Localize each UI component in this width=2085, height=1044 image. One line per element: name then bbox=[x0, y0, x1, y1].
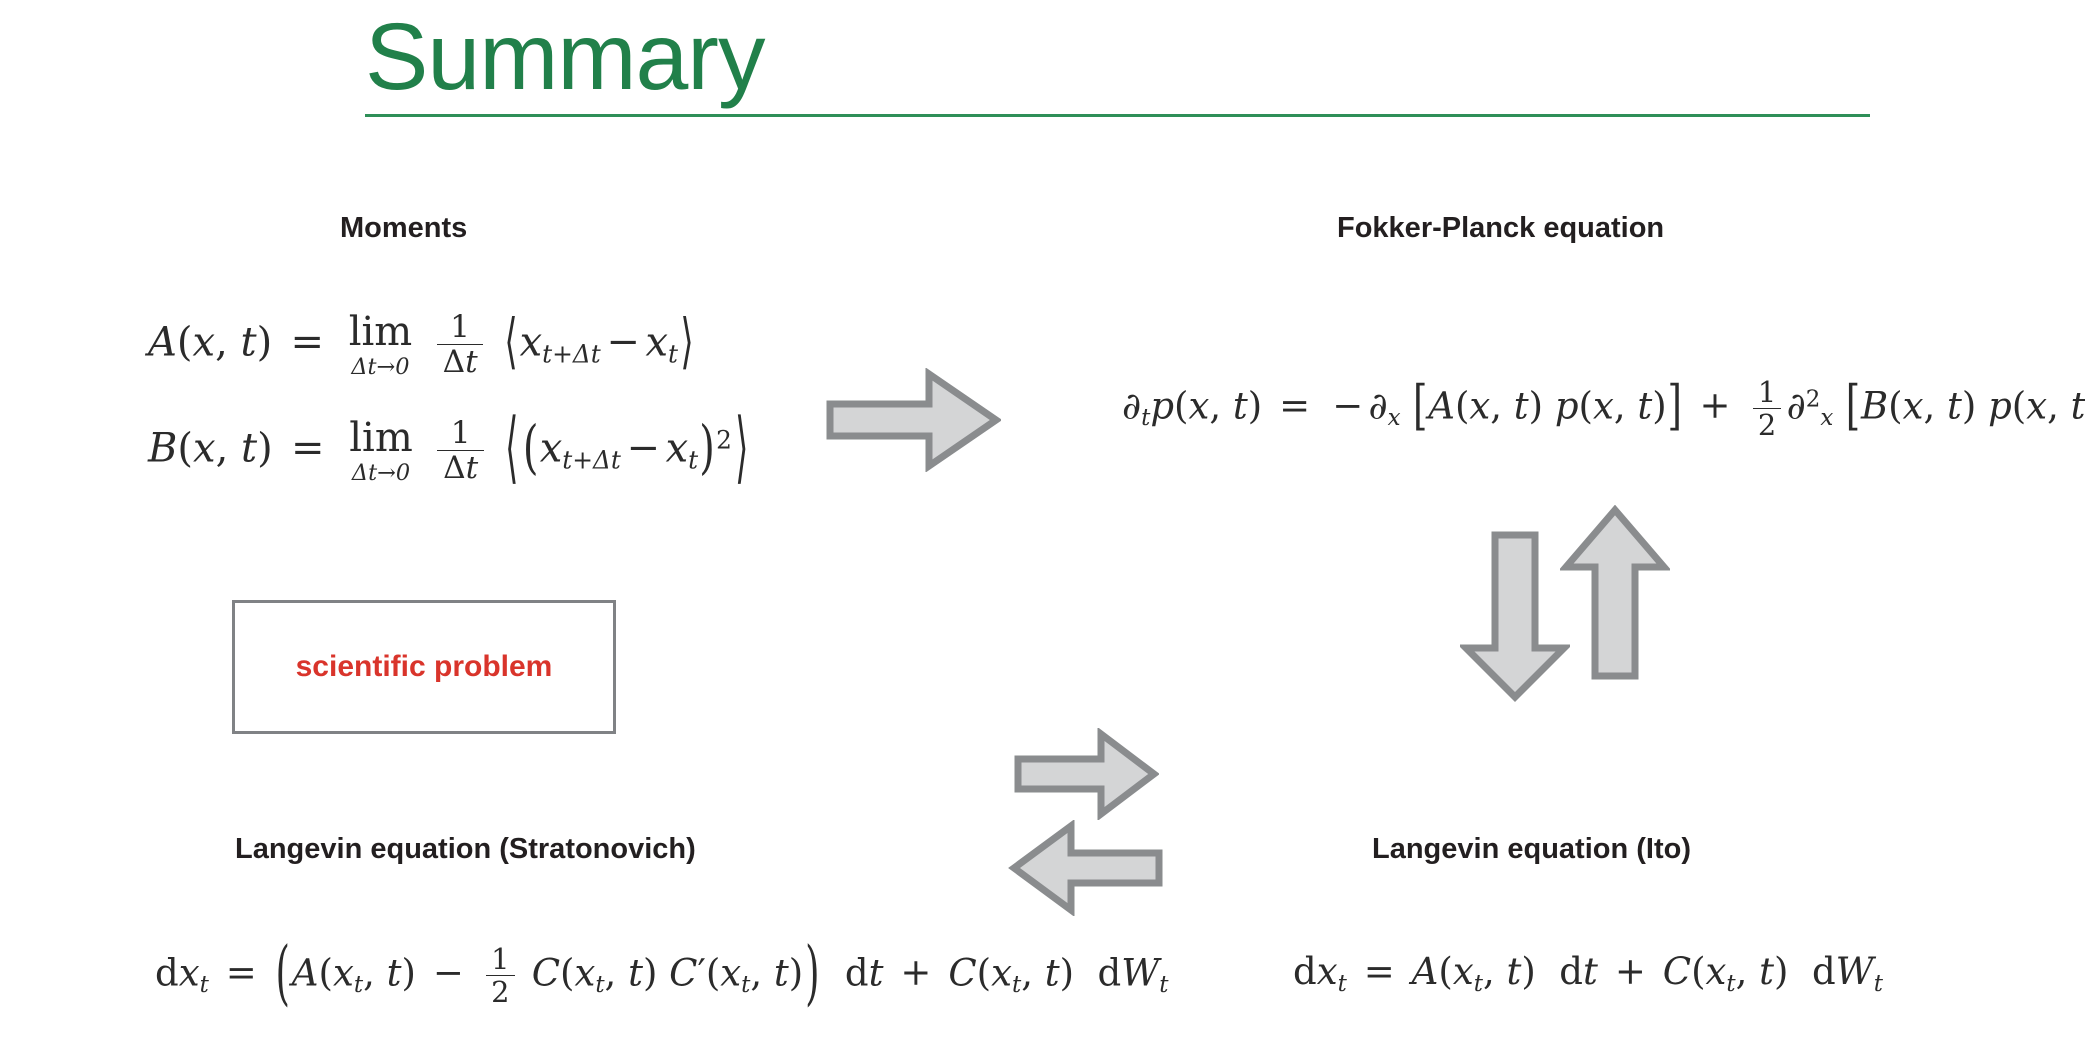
arrow-moments-to-fokker-planck-icon bbox=[825, 368, 1001, 472]
equation-langevin-stratonovich: dxt = (A(xt, t) − 12 C(xt, t) C′(xt, t))… bbox=[155, 945, 1169, 1007]
equation-langevin-ito: dxt = A(xt, t) dt + C(xt, t) dWt bbox=[1293, 950, 1883, 997]
arrow-ito-to-stratonovich-icon bbox=[1013, 728, 1159, 820]
scientific-problem-box: scientific problem bbox=[232, 600, 616, 734]
equation-moment-a: A(x, t) = limΔt→0 1Δt ⟨xt+Δt−xt⟩ bbox=[148, 312, 696, 379]
title-underline-rule bbox=[365, 114, 1870, 117]
page-title: Summary bbox=[365, 8, 1870, 108]
heading-langevin-ito: Langevin equation (Ito) bbox=[1372, 833, 1691, 866]
summary-slide: Summary Moments Fokker-Planck equation L… bbox=[0, 0, 2085, 1044]
heading-fokker-planck: Fokker-Planck equation bbox=[1337, 212, 1664, 245]
arrow-fokker-planck-up-icon bbox=[1560, 505, 1670, 681]
heading-langevin-stratonovich: Langevin equation (Stratonovich) bbox=[235, 833, 696, 866]
arrow-stratonovich-to-ito-icon bbox=[1008, 820, 1164, 916]
equation-fokker-planck: ∂tp(x, t) = −∂x [A(x, t) p(x, t)] + 12∂2… bbox=[1122, 378, 2085, 440]
arrow-fokker-planck-down-icon bbox=[1460, 530, 1570, 702]
equation-moment-b: B(x, t) = limΔt→0 1Δt ⟨(xt+Δt−xt)2⟩ bbox=[148, 418, 751, 485]
heading-moments: Moments bbox=[340, 212, 467, 245]
title-block: Summary bbox=[365, 8, 1870, 117]
scientific-problem-label: scientific problem bbox=[296, 650, 553, 684]
